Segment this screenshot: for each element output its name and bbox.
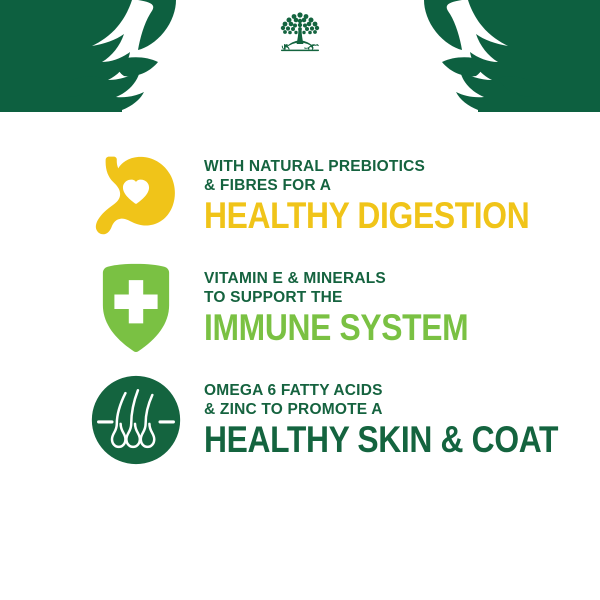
hair-follicle-skin-icon-wrap [88, 372, 184, 468]
benefit-text-skin-coat: OMEGA 6 FATTY ACIDS & ZINC TO PROMOTE A … [204, 382, 600, 458]
stomach-heart-icon-wrap [88, 148, 184, 244]
shield-cross-icon-wrap [88, 260, 184, 356]
benefit-headline-immune: IMMUNE SYSTEM [204, 309, 545, 346]
stomach-heart-icon [88, 148, 184, 244]
benefit-headline-skin-coat: HEALTHY SKIN & COAT [204, 421, 558, 458]
benefit-eyebrow-skin-coat: OMEGA 6 FATTY ACIDS & ZINC TO PROMOTE A [204, 382, 600, 419]
benefit-eyebrow-immune: VITAMIN E & MINERALS TO SUPPORT THE [204, 270, 600, 307]
tree-with-dog-and-cat-logo-icon [273, 8, 327, 56]
right-leaf-branch-decoration-icon [400, 0, 600, 112]
benefits-list: WITH NATURAL PREBIOTICS & FIBRES FOR A H… [0, 140, 600, 476]
poster-canvas: WITH NATURAL PREBIOTICS & FIBRES FOR A H… [0, 0, 600, 600]
benefit-text-digestion: WITH NATURAL PREBIOTICS & FIBRES FOR A H… [204, 158, 600, 234]
benefit-row-digestion: WITH NATURAL PREBIOTICS & FIBRES FOR A H… [0, 140, 600, 252]
shield-cross-icon [88, 260, 184, 356]
benefit-row-immune: VITAMIN E & MINERALS TO SUPPORT THE IMMU… [0, 252, 600, 364]
benefit-headline-digestion: HEALTHY DIGESTION [204, 197, 545, 234]
benefit-eyebrow-digestion: WITH NATURAL PREBIOTICS & FIBRES FOR A [204, 158, 600, 195]
left-leaf-branch-decoration-icon [0, 0, 200, 112]
benefit-row-skin-coat: OMEGA 6 FATTY ACIDS & ZINC TO PROMOTE A … [0, 364, 600, 476]
benefit-text-immune: VITAMIN E & MINERALS TO SUPPORT THE IMMU… [204, 270, 600, 346]
hair-follicle-skin-icon [88, 372, 184, 468]
top-decorative-band [0, 0, 600, 112]
